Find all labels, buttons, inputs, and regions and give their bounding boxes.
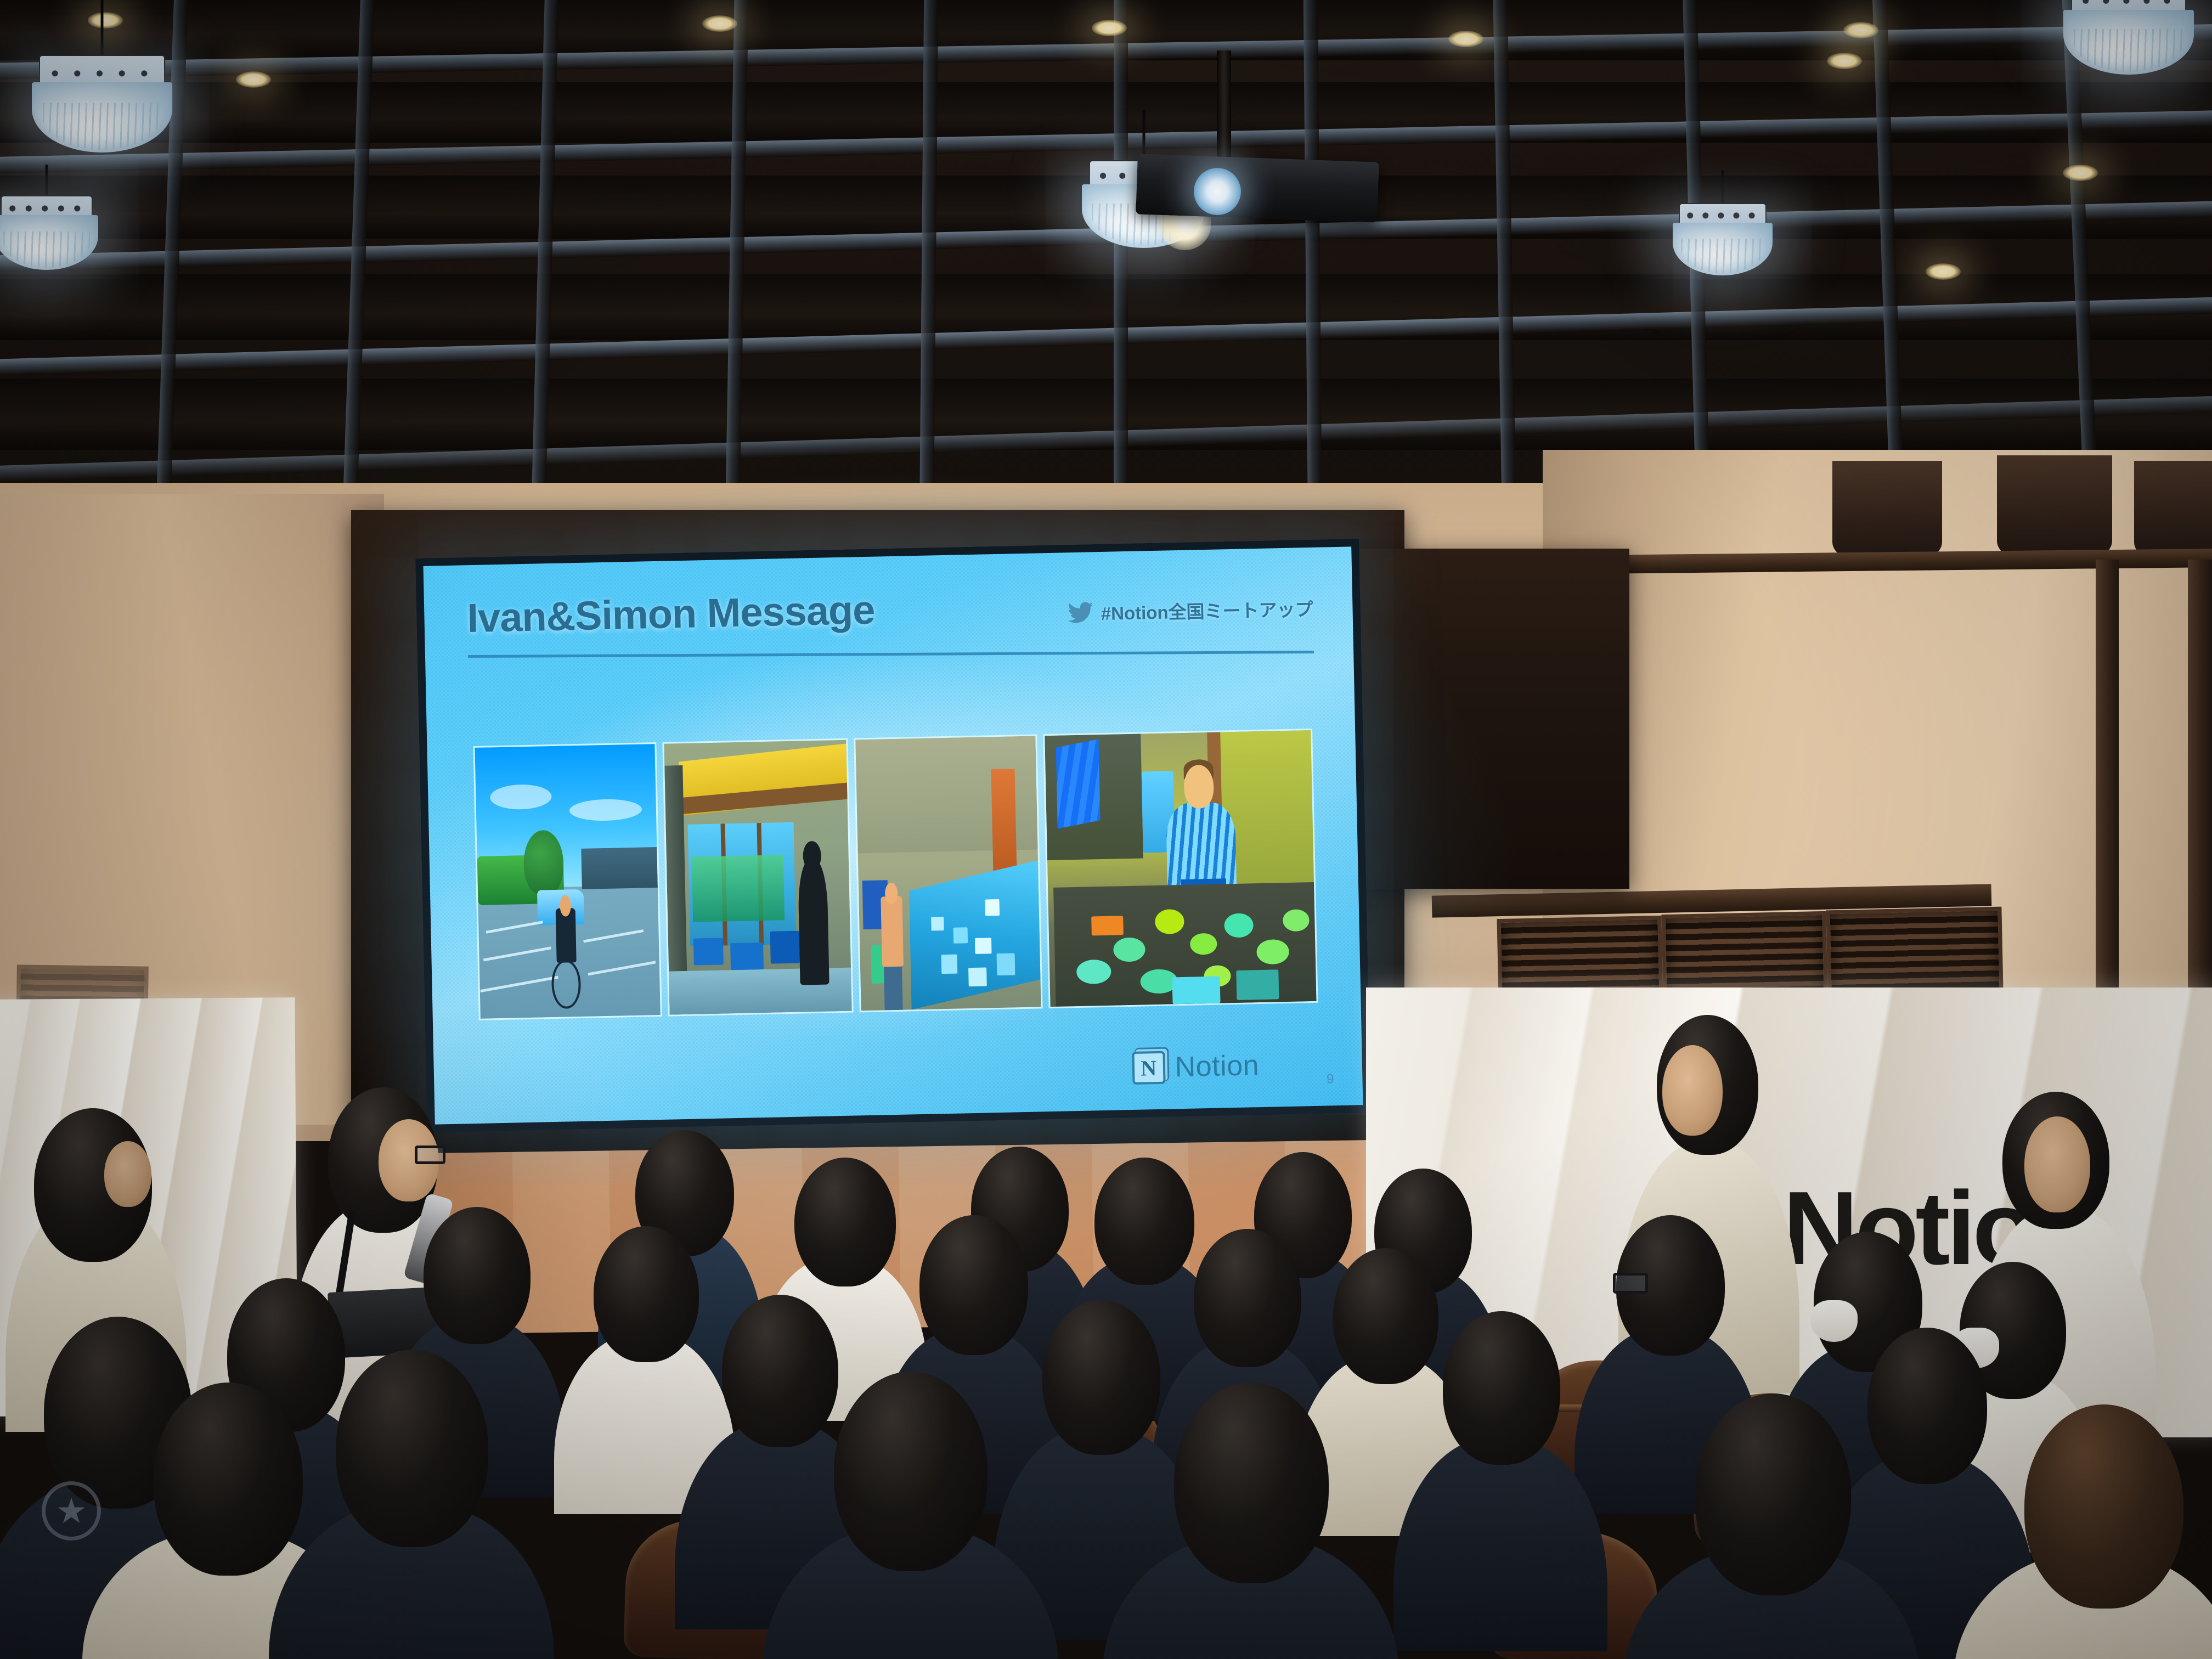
pendant-lamp (1657, 170, 1788, 285)
slide-photo-2 (662, 738, 854, 1017)
notion-logo-icon: N (1132, 1051, 1165, 1085)
recessed-downlight (1092, 20, 1127, 36)
screen-wall-panel (1344, 549, 1629, 889)
slide-divider-rule (468, 651, 1314, 658)
projector-lens (1194, 168, 1241, 215)
audience-member-head (1174, 1383, 1329, 1583)
recessed-downlight (236, 71, 271, 88)
audience-member-head (1443, 1311, 1560, 1465)
notion-brand-name: Notion (1175, 1049, 1260, 1084)
audience-member-head (1194, 1229, 1301, 1367)
projector-mount-rod (1217, 50, 1231, 165)
slide-photo-3 (854, 734, 1043, 1012)
standing-guest-2-face (2024, 1116, 2090, 1212)
pendant-lamp (2046, 0, 2211, 104)
twitter-bird-icon (1068, 601, 1093, 624)
seated-panelist-face (104, 1141, 151, 1207)
wall-trim (2188, 560, 2212, 1042)
audience-member-head (794, 1158, 896, 1286)
slide-photo-4 (1043, 729, 1318, 1008)
audience-member-head (1094, 1158, 1194, 1285)
projection-screen-frame: Ivan&Simon Message #Notion全国ミートアップ (415, 539, 1371, 1132)
recessed-downlight (1926, 263, 1961, 280)
slide-hashtag-text: #Notion全国ミートアップ (1101, 595, 1313, 625)
recessed-downlight (1827, 53, 1862, 69)
pendant-lamp (0, 165, 110, 274)
notion-logo-letter: N (1134, 1053, 1163, 1082)
recessed-downlight (2063, 165, 2098, 181)
slide-photo-strip (473, 729, 1318, 1020)
notion-brand-mark: N Notion (1132, 1049, 1260, 1085)
conference-hall-photo: Ivan&Simon Message #Notion全国ミートアップ (0, 0, 2212, 1659)
louvered-vent-panel (1826, 907, 2003, 996)
slide: Ivan&Simon Message #Notion全国ミートアップ (424, 546, 1363, 1124)
louvered-vent-panel (1661, 911, 1827, 998)
audience-member-glasses (1613, 1273, 1648, 1294)
pendant-lamp (20, 0, 184, 154)
audience-member-head (1867, 1328, 1987, 1484)
audience-member-head (2024, 1404, 2183, 1609)
audience-member-head (154, 1383, 303, 1576)
face-mask (1810, 1300, 1858, 1342)
ceiling-projector (1136, 154, 1379, 222)
audience-member-head (834, 1372, 988, 1571)
audience-member-head (722, 1295, 838, 1447)
recessed-downlight (1843, 22, 1878, 38)
recessed-downlight (1448, 31, 1483, 47)
wall-trim (2096, 560, 2119, 998)
audience-member-head (424, 1207, 531, 1344)
slide-hashtag: #Notion全国ミートアップ (1068, 595, 1313, 626)
slide-page-number: 9 (1327, 1071, 1334, 1087)
recessed-downlight (702, 15, 737, 32)
standing-guest-face (1662, 1045, 1723, 1136)
tshirt-star-logo (42, 1481, 101, 1541)
audience-member-head (594, 1226, 699, 1362)
wood-corbel (1997, 455, 2112, 565)
projection-screen: Ivan&Simon Message #Notion全国ミートアップ (424, 546, 1363, 1124)
slide-photo-1 (473, 742, 662, 1020)
coffered-ceiling (0, 0, 2212, 527)
wood-corbel (1832, 461, 1942, 565)
audience-member-head (919, 1215, 1028, 1355)
presenter-glasses (415, 1145, 445, 1164)
audience-member-head (1695, 1393, 1851, 1595)
audience-member-head (1042, 1300, 1160, 1455)
slide-title: Ivan&Simon Message (467, 586, 875, 642)
audience-member-head (336, 1350, 488, 1547)
audience-member-head (1333, 1248, 1438, 1384)
